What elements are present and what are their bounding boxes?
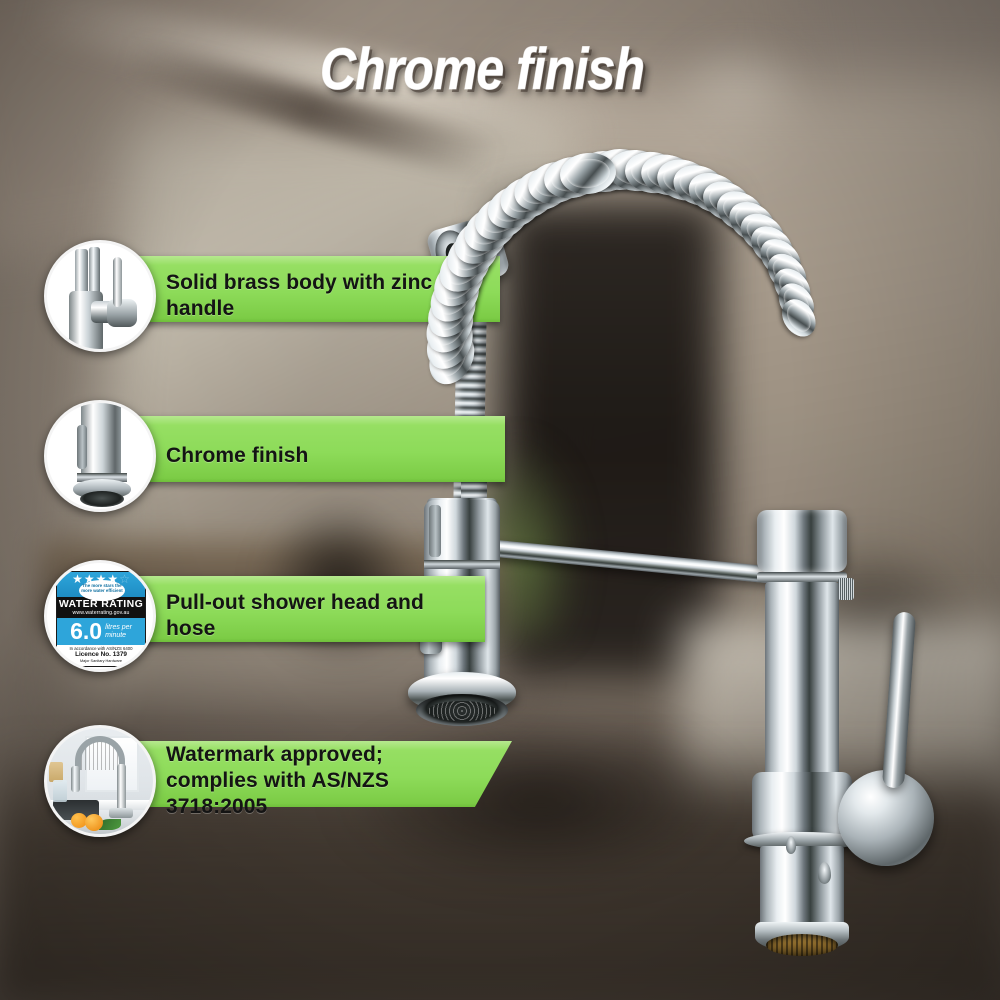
wels-unit-line-2: minute bbox=[105, 632, 126, 639]
thumb-kitchen-cabinet bbox=[49, 762, 63, 782]
thumb-kitchen-orange-2 bbox=[85, 814, 103, 831]
callout-text-2: Chrome finish bbox=[166, 443, 466, 469]
product-feature-image: Chrome finish Solid br bbox=[0, 0, 1000, 1000]
callout-text-3: Pull-out shower head and hose bbox=[166, 590, 456, 642]
wels-organisation: Major Sanitary Hardware bbox=[57, 659, 145, 664]
thumb-kitchen-spray-head bbox=[71, 766, 80, 792]
wels-licence: Licence No. 1379 bbox=[57, 651, 145, 659]
thumb-lever-handle bbox=[113, 257, 122, 307]
spray-head-fin bbox=[429, 505, 441, 557]
thumb-spray-shaft bbox=[81, 400, 121, 479]
wels-rating-row: 6.0 litres per minute bbox=[57, 618, 145, 645]
wels-rating-unit: litres per minute bbox=[105, 624, 132, 640]
thumb-spray-fin bbox=[77, 425, 87, 469]
spray-head-ring bbox=[424, 560, 500, 569]
spray-head-closeup-thumbnail[interactable] bbox=[44, 400, 156, 512]
callout-text-1: Solid brass body with zinc handle bbox=[166, 270, 466, 322]
brass-thread bbox=[766, 934, 838, 956]
callout-text-4: Watermark approved; complies with AS/NZS… bbox=[166, 742, 476, 820]
wels-unit-line-1: litres per bbox=[105, 624, 132, 631]
spray-nozzle-holes bbox=[428, 701, 496, 721]
thumb-kitchen-glass bbox=[53, 780, 67, 802]
body-highlight-lower bbox=[818, 862, 831, 884]
lever-handle[interactable] bbox=[882, 611, 916, 788]
body-collar-ring bbox=[757, 572, 847, 582]
wels-water-rating-label: ★ ★ ★ ★ ☆ The more stars the more water … bbox=[56, 571, 146, 667]
water-rating-label-thumbnail[interactable]: ★ ★ ★ ★ ☆ The more stars the more water … bbox=[44, 560, 156, 672]
body-upper-collar bbox=[757, 510, 847, 572]
wels-tagline: The more stars the more water efficient bbox=[79, 580, 125, 601]
body-highlight-upper bbox=[786, 836, 796, 854]
wels-footer: In accordance with AS/NZS 6400 Licence N… bbox=[57, 645, 145, 666]
wels-star-row: ★ ★ ★ ★ ☆ The more stars the more water … bbox=[57, 572, 145, 597]
kitchen-scene-thumbnail[interactable] bbox=[44, 725, 156, 837]
thumb-spray-face bbox=[80, 491, 124, 507]
wels-band-url: www.waterrating.gov.au bbox=[57, 610, 145, 616]
thumb-kitchen-faucet-base bbox=[109, 808, 133, 818]
wels-star-1: ★ bbox=[72, 573, 83, 585]
faucet-body-handle-thumbnail[interactable] bbox=[44, 240, 156, 352]
wels-rating-value: 6.0 bbox=[70, 620, 102, 643]
thumb-handle-hub bbox=[107, 299, 137, 327]
body-knurled-nut bbox=[838, 578, 854, 600]
